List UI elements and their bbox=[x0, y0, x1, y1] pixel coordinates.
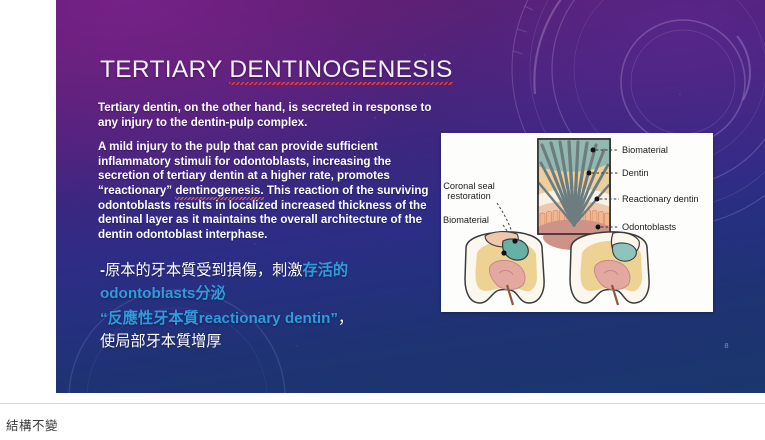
cjk-line-1-accent: 存活的 bbox=[303, 262, 349, 279]
slide-number: 8 bbox=[724, 341, 729, 350]
slide-title: TERTIARY DENTINOGENESIS bbox=[100, 56, 453, 84]
paragraph-1: Tertiary dentin, on the other hand, is s… bbox=[98, 101, 440, 130]
cjk-line-2-accent: odontoblasts分泌 bbox=[100, 285, 226, 302]
cjk-line-3: “反應性牙本質reactionary dentin”， bbox=[100, 307, 450, 330]
paragraph-2-spellchecked-word: dentinogenesis. bbox=[175, 184, 263, 199]
cjk-line-4: 使局部牙本質增厚 bbox=[100, 330, 450, 353]
slide-canvas[interactable]: TERTIARY DENTINOGENESIS Tertiary dentin,… bbox=[56, 0, 765, 393]
cjk-bullet-block-2: “反應性牙本質reactionary dentin”， 使局部牙本質增厚 bbox=[100, 307, 450, 353]
cjk-line-3-accent: “反應性牙本質reactionary dentin” bbox=[100, 310, 338, 327]
slide-title-spellchecked: DENTINOGENESIS bbox=[229, 56, 452, 84]
body-text-column: Tertiary dentin, on the other hand, is s… bbox=[98, 101, 440, 252]
svg-text:Biomaterial: Biomaterial bbox=[443, 215, 489, 225]
svg-text:Reactionary dentin: Reactionary dentin bbox=[622, 194, 699, 204]
notes-text: 結構不變 bbox=[6, 415, 58, 434]
svg-text:Dentin: Dentin bbox=[622, 168, 649, 178]
figure-image-panel[interactable]: Biomaterial Dentin Reactionary dentin Od… bbox=[441, 133, 713, 312]
tertiary-dentin-diagram: Biomaterial Dentin Reactionary dentin Od… bbox=[441, 133, 713, 312]
notes-separator bbox=[0, 403, 765, 404]
svg-text:Odontoblasts: Odontoblasts bbox=[622, 222, 677, 232]
cjk-line-2: odontoblasts分泌 bbox=[100, 282, 450, 305]
cjk-bullet-block-1: -原本的牙本質受到損傷，刺激存活的 odontoblasts分泌 bbox=[100, 259, 450, 305]
cjk-line-1-text: 原本的牙本質受到損傷，刺激 bbox=[105, 262, 302, 279]
presentation-page: TERTIARY DENTINOGENESIS Tertiary dentin,… bbox=[0, 0, 765, 440]
cjk-line-1: -原本的牙本質受到損傷，刺激存活的 bbox=[100, 259, 450, 282]
paragraph-2: A mild injury to the pulp that can provi… bbox=[98, 140, 440, 242]
svg-text:Coronal seal: Coronal seal bbox=[443, 181, 495, 191]
svg-text:Biomaterial: Biomaterial bbox=[622, 145, 668, 155]
slide-title-main: TERTIARY bbox=[100, 56, 229, 83]
cjk-line-3-tail: ， bbox=[338, 310, 353, 327]
svg-text:restoration: restoration bbox=[447, 191, 490, 201]
